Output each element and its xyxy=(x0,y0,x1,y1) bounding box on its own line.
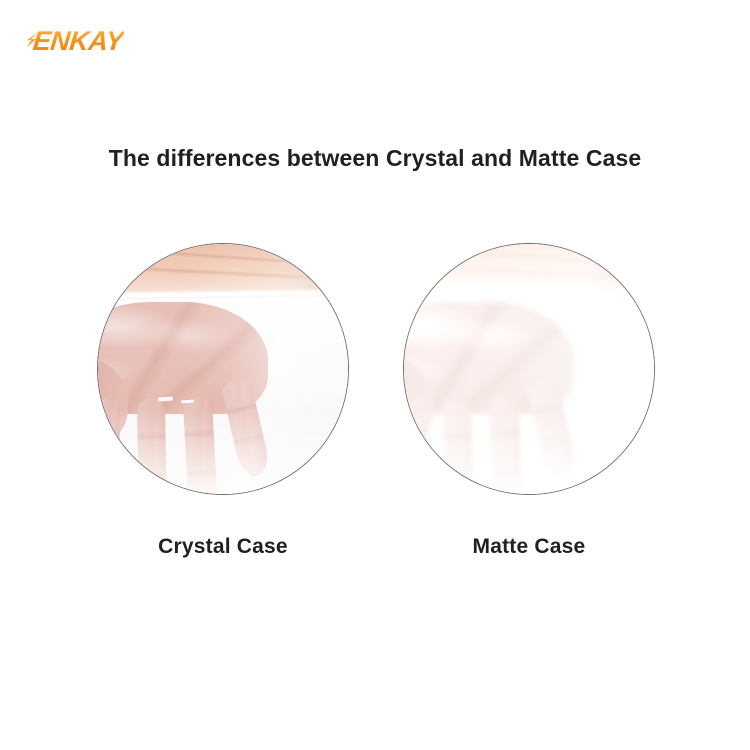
comparison-item-matte xyxy=(403,243,655,495)
matte-case-scene xyxy=(404,244,654,494)
case-sheen xyxy=(404,244,654,494)
caption-matte-case: Matte Case xyxy=(403,535,655,559)
matte-case-photo xyxy=(403,243,655,495)
comparison-row xyxy=(0,243,750,495)
brand-logo: ENKAY xyxy=(32,28,125,55)
caption-crystal-case: Crystal Case xyxy=(97,535,349,559)
page-title: The differences between Crystal and Matt… xyxy=(0,145,750,172)
crystal-case-photo xyxy=(97,243,349,495)
crystal-case-scene xyxy=(98,244,348,494)
case-sheen xyxy=(98,244,348,494)
comparison-item-crystal xyxy=(97,243,349,495)
